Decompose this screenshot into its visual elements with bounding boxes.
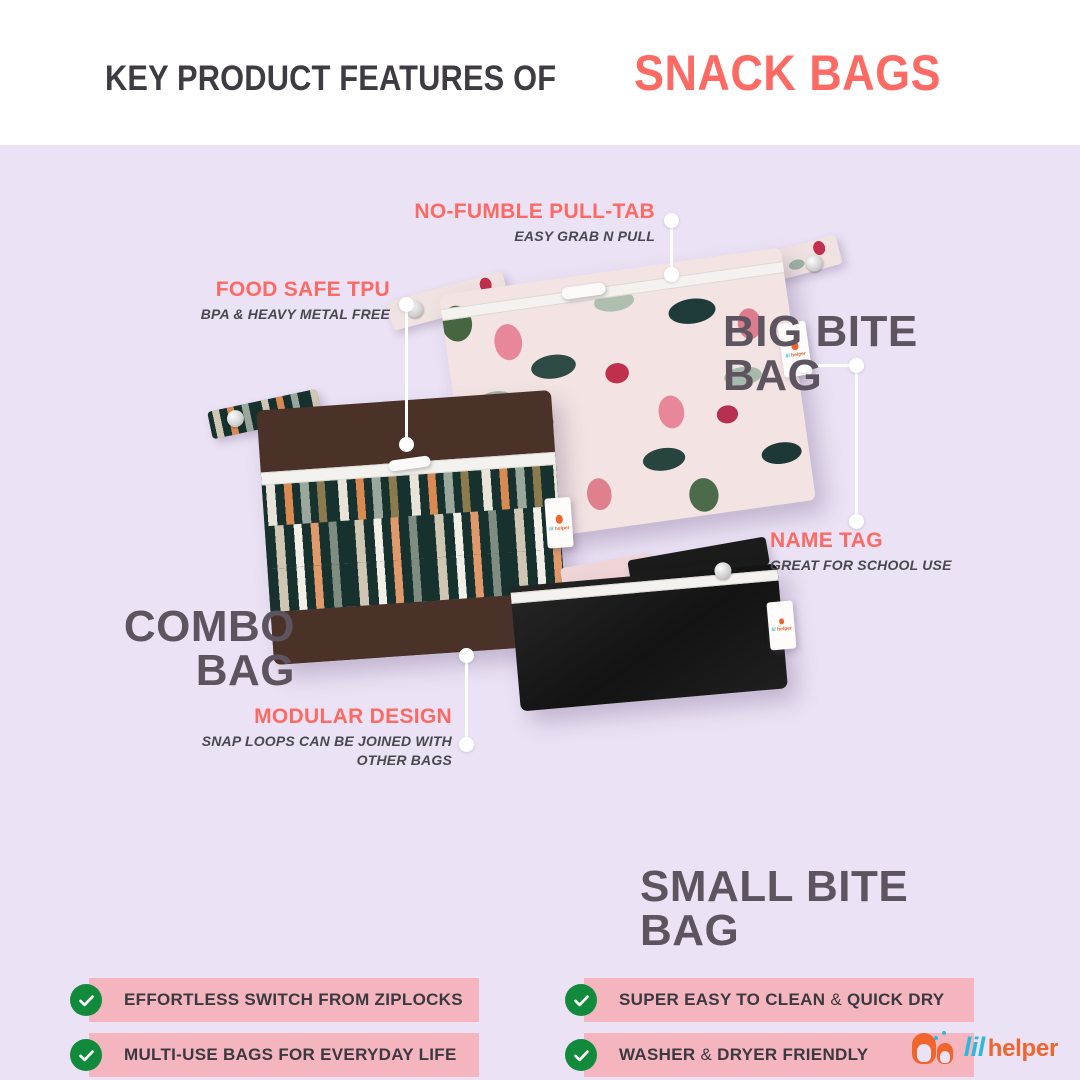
callout-subtitle-line2: OTHER BAGS bbox=[202, 751, 452, 769]
title-prefix: KEY PRODUCT FEATURES OF bbox=[105, 59, 556, 99]
penguin-icon bbox=[555, 514, 563, 523]
feature-bar: EFFORTLESS SWITCH FROM ZIPLOCKS bbox=[89, 978, 479, 1022]
bag-label-line2: BAG bbox=[640, 909, 908, 953]
check-circle-icon bbox=[565, 1039, 597, 1071]
callout-name-tag: NAME TAG GREAT FOR SCHOOL USE bbox=[770, 529, 952, 574]
page-title: KEY PRODUCT FEATURES OF SNACK BAGS bbox=[105, 44, 975, 102]
bag-label-big-bite: BIG BITE BAG bbox=[723, 310, 918, 398]
penguin-small-icon bbox=[937, 1043, 953, 1064]
sparkle-icon bbox=[934, 1036, 938, 1040]
feature-row: SUPER EASY TO CLEAN & QUICK DRY bbox=[565, 978, 974, 1022]
logo-wordmark: lil helper bbox=[964, 1032, 1058, 1063]
callout-title: MODULAR DESIGN bbox=[202, 705, 452, 729]
leader-dot-pull-tab-top bbox=[664, 213, 679, 228]
callout-subtitle: BPA & HEAVY METAL FREE bbox=[201, 305, 390, 323]
leader-dot-pull-tab-bottom bbox=[664, 267, 679, 282]
feature-bar: MULTI-USE BAGS FOR EVERYDAY LIFE bbox=[89, 1033, 479, 1077]
feature-text: WASHER & DRYER FRIENDLY bbox=[619, 1045, 868, 1065]
tag-text: lil helper bbox=[549, 525, 570, 532]
callout-subtitle: GREAT FOR SCHOOL USE bbox=[770, 556, 952, 574]
feature-text: MULTI-USE BAGS FOR EVERYDAY LIFE bbox=[124, 1045, 457, 1065]
infographic-page: KEY PRODUCT FEATURES OF SNACK BAGS lil h… bbox=[0, 0, 1080, 1080]
logo-word-lil: lil bbox=[964, 1032, 985, 1063]
leader-dot-food-safe-top bbox=[399, 297, 414, 312]
bag-label-combo: COMBO BAG bbox=[124, 605, 295, 693]
sparkle-icon bbox=[942, 1031, 946, 1035]
feature-text: EFFORTLESS SWITCH FROM ZIPLOCKS bbox=[124, 990, 463, 1010]
check-circle-icon bbox=[565, 984, 597, 1016]
leader-dot-modular-bottom bbox=[459, 737, 474, 752]
callout-subtitle: EASY GRAB N PULL bbox=[414, 227, 655, 245]
penguin-logo-icon bbox=[912, 1030, 958, 1064]
penguin-icon bbox=[778, 618, 784, 624]
feature-list-right: SUPER EASY TO CLEAN & QUICK DRYWASHER & … bbox=[565, 978, 974, 1080]
check-circle-icon bbox=[70, 1039, 102, 1071]
callout-food-safe-tpu: FOOD SAFE TPU BPA & HEAVY METAL FREE bbox=[201, 278, 390, 323]
name-tag-label: lil helper bbox=[766, 600, 796, 650]
feature-bar: SUPER EASY TO CLEAN & QUICK DRY bbox=[584, 978, 974, 1022]
hero-section: lil helper lil helper bbox=[0, 145, 1080, 1080]
leader-dot-food-safe-bottom bbox=[399, 437, 414, 452]
bag-label-line2: BAG bbox=[124, 649, 295, 693]
callout-modular-design: MODULAR DESIGN SNAP LOOPS CAN BE JOINED … bbox=[202, 705, 452, 770]
callout-title: NO-FUMBLE PULL-TAB bbox=[414, 200, 655, 224]
name-tag-label: lil helper bbox=[544, 497, 573, 549]
leader-dot-name-tag-end bbox=[849, 514, 864, 529]
check-circle-icon bbox=[70, 984, 102, 1016]
callout-title: FOOD SAFE TPU bbox=[201, 278, 390, 302]
brand-logo: lil helper bbox=[912, 1030, 1058, 1064]
leader-line-modular bbox=[465, 655, 468, 745]
feature-text: SUPER EASY TO CLEAN & QUICK DRY bbox=[619, 990, 944, 1010]
bag-label-line1: COMBO bbox=[124, 602, 295, 651]
penguin-large-icon bbox=[912, 1033, 936, 1064]
tag-text: lil helper bbox=[771, 626, 792, 634]
header-band: KEY PRODUCT FEATURES OF SNACK BAGS bbox=[0, 0, 1080, 145]
callout-no-fumble-pull-tab: NO-FUMBLE PULL-TAB EASY GRAB N PULL bbox=[414, 200, 655, 245]
leader-dot-modular-top bbox=[459, 648, 474, 663]
bag-body-black bbox=[510, 564, 788, 712]
feature-row: MULTI-USE BAGS FOR EVERYDAY LIFE bbox=[70, 1033, 479, 1077]
leader-line-food-safe bbox=[405, 305, 408, 445]
title-accent: SNACK BAGS bbox=[634, 44, 941, 102]
bag-label-line1: SMALL BITE bbox=[640, 862, 908, 911]
bag-label-small-bite: SMALL BITE BAG bbox=[640, 865, 908, 953]
callout-subtitle-line1: SNAP LOOPS CAN BE JOINED WITH bbox=[202, 732, 452, 750]
bag-label-line2: BAG bbox=[723, 354, 918, 398]
callout-title: NAME TAG bbox=[770, 529, 952, 553]
logo-word-helper: helper bbox=[988, 1035, 1058, 1063]
bag-label-line1: BIG BITE bbox=[723, 307, 918, 356]
product-small-bite-bag: lil helper bbox=[510, 564, 788, 712]
feature-row: EFFORTLESS SWITCH FROM ZIPLOCKS bbox=[70, 978, 479, 1022]
feature-list-left: EFFORTLESS SWITCH FROM ZIPLOCKSMULTI-USE… bbox=[70, 978, 479, 1080]
